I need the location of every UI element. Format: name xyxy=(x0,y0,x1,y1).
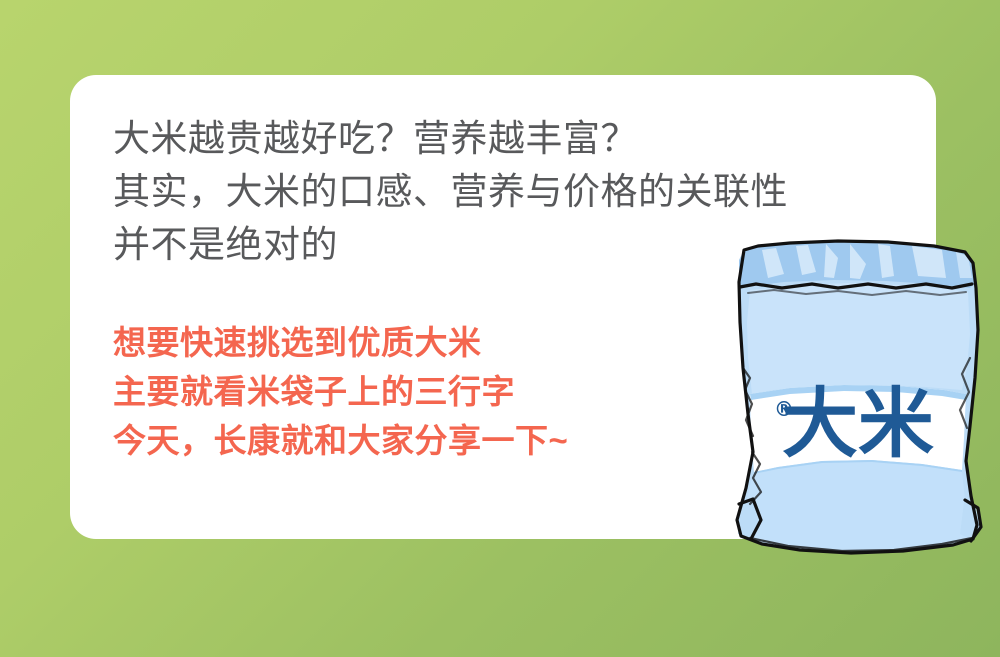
bag-label-main-text: 大米 xyxy=(782,379,934,468)
bag-trademark-symbol: ® xyxy=(774,397,794,421)
headline-line-1: 大米越贵越好吃？营养越丰富？ xyxy=(113,112,913,165)
rice-bag-illustration: 大米 ® xyxy=(726,238,988,568)
bag-upper-panel xyxy=(747,283,970,394)
bag-lower-panel xyxy=(741,462,972,552)
poster-canvas: 大米越贵越好吃？营养越丰富？ 其实，大米的口感、营养与价格的关联性 并不是绝对的… xyxy=(0,0,1000,657)
headline-line-2: 其实，大米的口感、营养与价格的关联性 xyxy=(113,165,913,218)
